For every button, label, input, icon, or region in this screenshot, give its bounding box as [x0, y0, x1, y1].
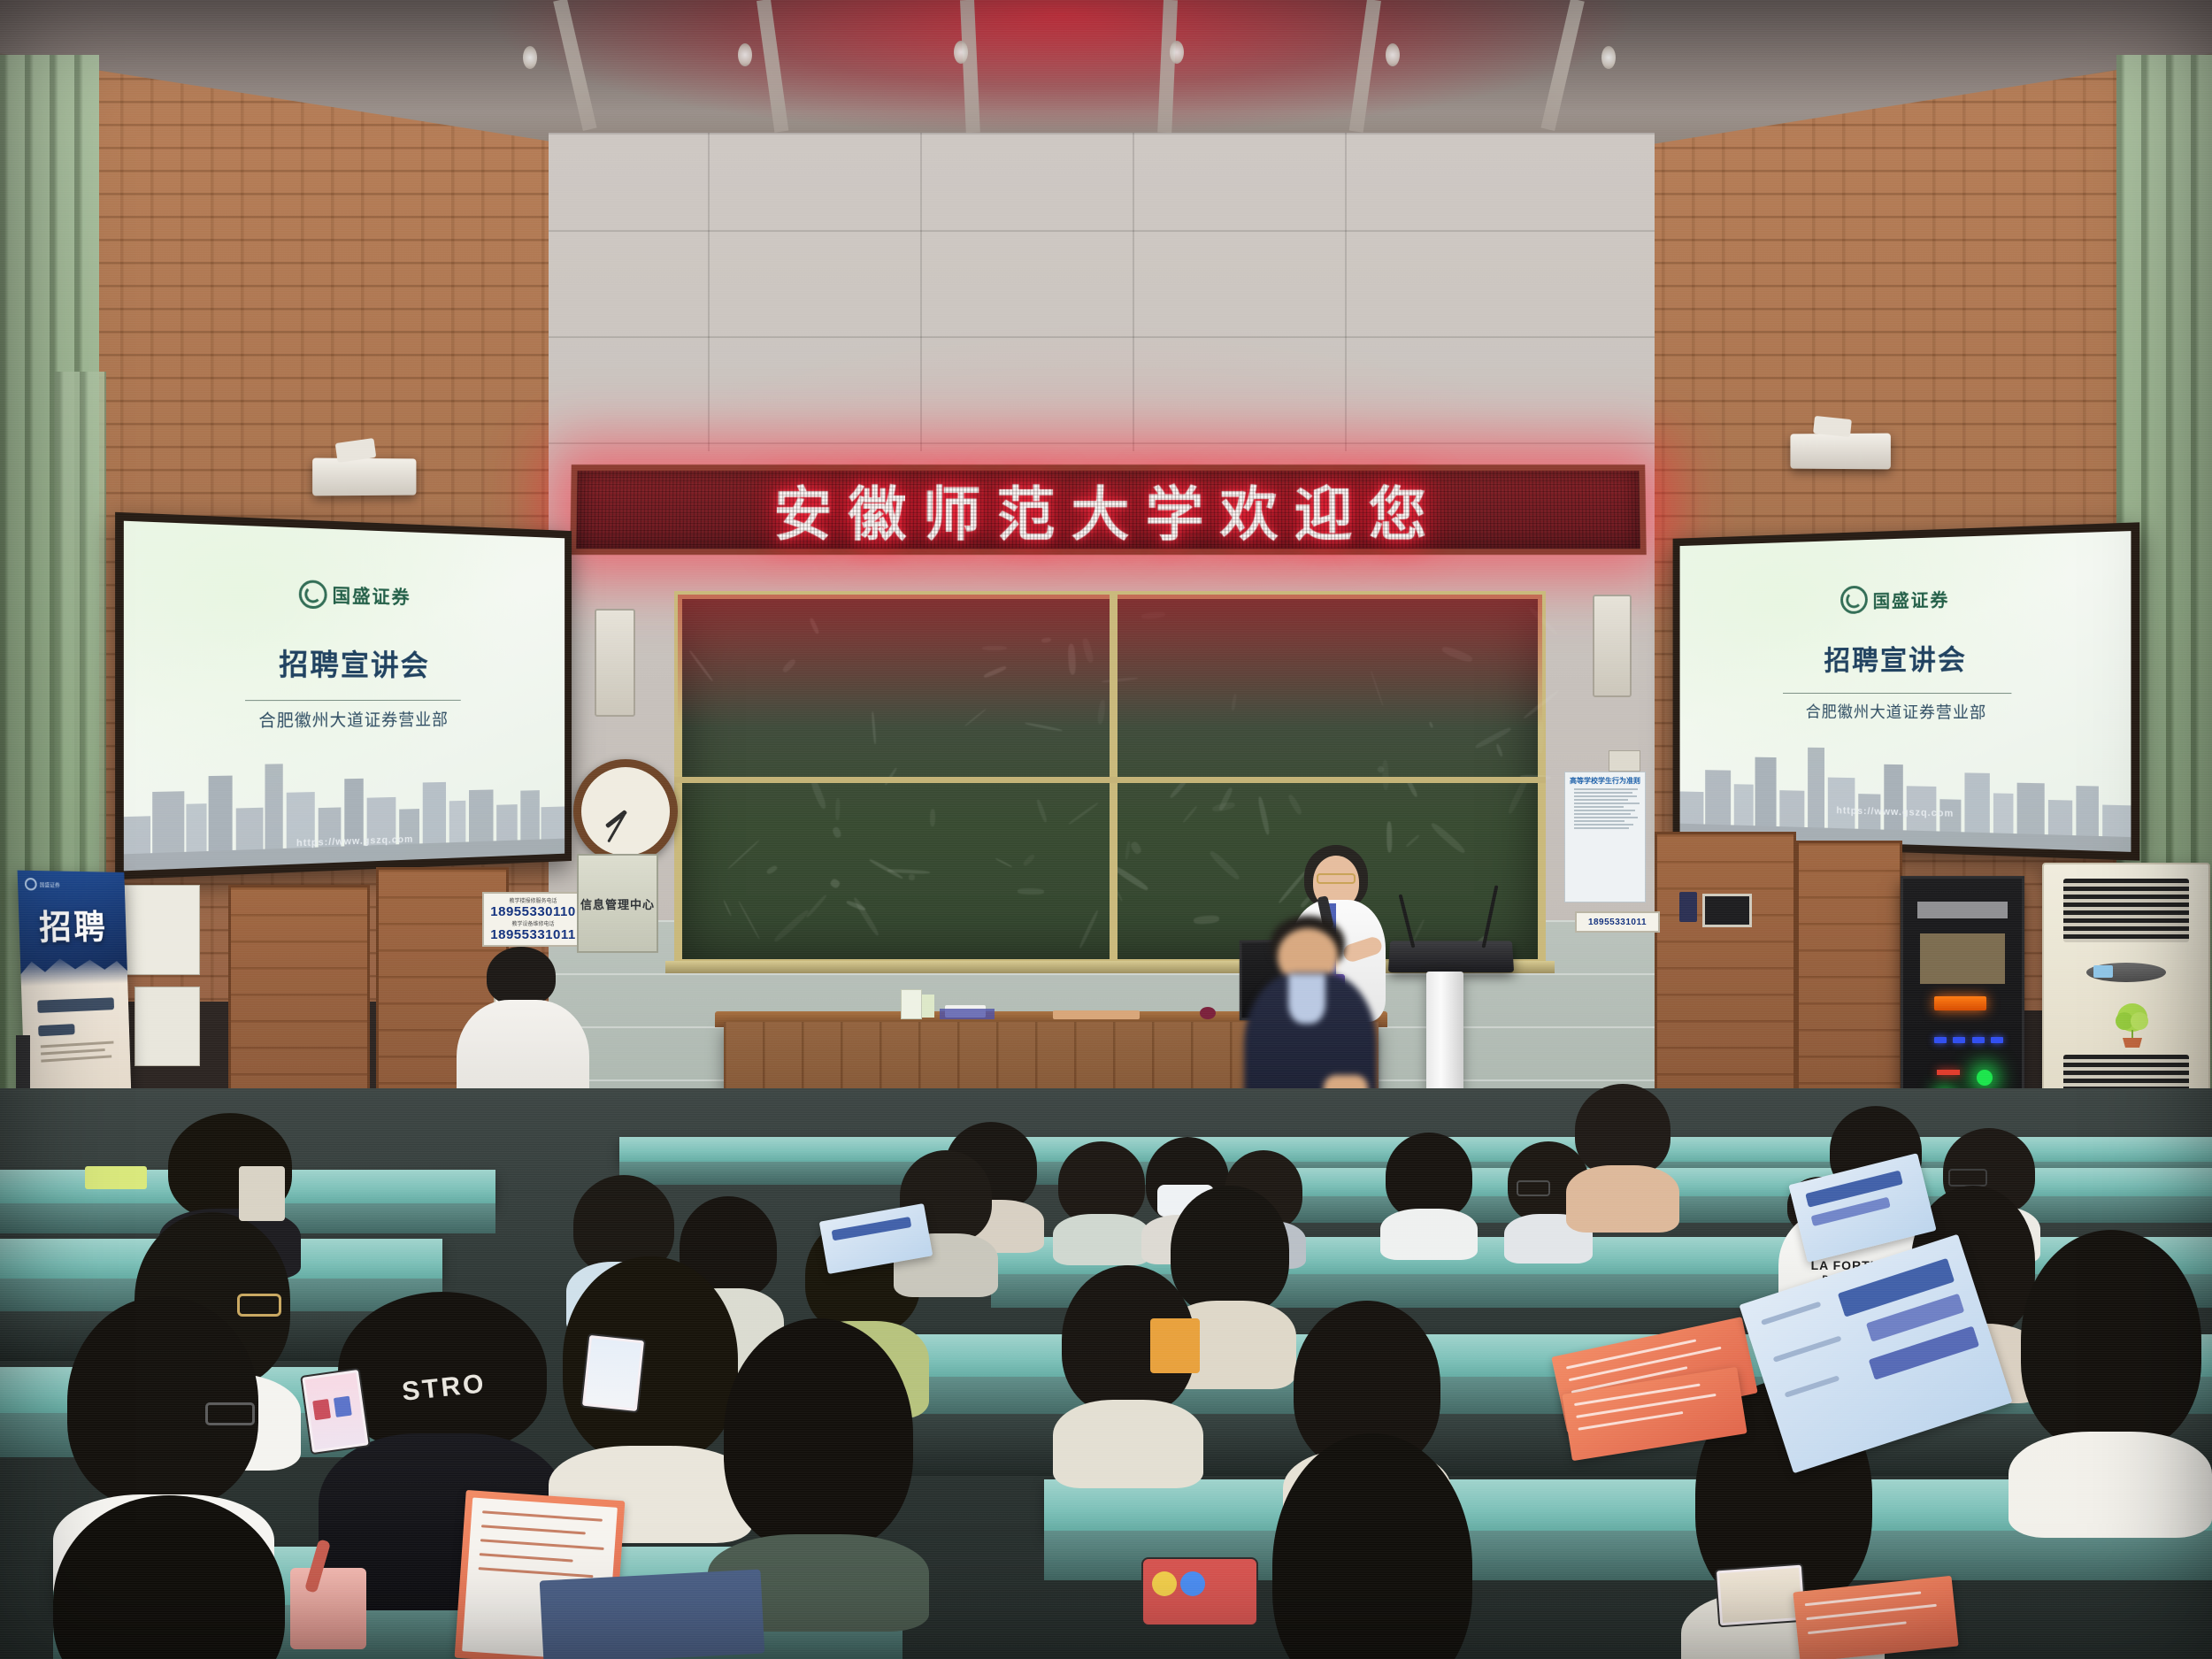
chalk-smudge	[727, 840, 760, 871]
chalk-smudge	[1141, 611, 1166, 620]
desk-item-yellow	[85, 1166, 147, 1189]
slide-rule	[1783, 693, 2011, 694]
repair-phone-sign: 教学楼报修服务电话 18955330110 教学设备维修电话 189553310…	[482, 892, 584, 947]
student-phone-2[interactable]	[580, 1333, 646, 1413]
chalk-smudge	[1429, 722, 1433, 729]
chalk-smudge	[1022, 853, 1036, 867]
phone-caption-2: 教学设备维修电话	[511, 919, 554, 927]
chalk-smudge	[1208, 849, 1240, 881]
chalk-smudge	[1096, 700, 1106, 726]
left-projection-screen: 国盛证券 招聘宣讲会 合肥徽州大道证券营业部 https://www.gszq.…	[115, 512, 572, 879]
desk-small-object	[1200, 1007, 1216, 1019]
chalk-smudge	[1475, 726, 1512, 749]
ac-top-grill	[2063, 879, 2188, 942]
recruitment-roll-banner: 国盛证券 招聘	[18, 871, 132, 1125]
slide-logo-text: 国盛证券	[333, 581, 411, 610]
glasses-icon	[1948, 1169, 1987, 1187]
wall-block-line	[1345, 133, 1347, 451]
student-phone-1[interactable]	[300, 1368, 371, 1455]
wall-block-line	[708, 133, 710, 451]
rack-button-4[interactable]	[1991, 1037, 2003, 1043]
desk-item-green	[922, 995, 934, 1018]
chalk-smudge	[1495, 743, 1503, 757]
wall-block-line	[549, 336, 1655, 338]
door-lock-icon[interactable]	[1679, 892, 1697, 922]
right-projection-screen: 国盛证券 招聘宣讲会 合肥徽州大道证券营业部 https://www.gszq.…	[1673, 522, 2140, 860]
chalk-smudge	[773, 909, 810, 943]
slide-subtitle: 合肥徽州大道证券营业部	[1680, 700, 2131, 725]
chalk-smudge	[964, 708, 987, 726]
rack-button-2[interactable]	[1953, 1037, 1965, 1043]
student-rules-poster: 高等学校学生行为准则	[1564, 772, 1646, 902]
right-phone-sign: 18955331011	[1575, 911, 1660, 933]
chalk-smudge	[1287, 794, 1304, 817]
ceiling-rib	[1157, 0, 1178, 133]
chalk-smudge	[1429, 821, 1466, 855]
wall-block-line	[549, 442, 1655, 444]
info-management-center-box: 信息管理中心	[577, 854, 658, 953]
lectern-top	[1388, 941, 1514, 972]
ceiling-light	[954, 41, 968, 64]
right-wall-speaker	[1593, 595, 1632, 697]
ceiling-light	[1386, 43, 1400, 66]
glasses-icon	[1517, 1180, 1550, 1196]
classroom-photo: 安徽师范大学欢迎您	[0, 0, 2212, 1659]
chalk-smudge	[1035, 799, 1048, 823]
slide-logo: 国盛证券	[1840, 584, 1949, 614]
chalkboard-divider-horizontal	[674, 777, 1546, 783]
banner-chip-1	[37, 997, 114, 1013]
chalk-smudge	[983, 664, 1006, 678]
chalk-smudge	[1102, 677, 1138, 683]
chalk-smudge	[809, 618, 819, 634]
phone-number-right: 18955331011	[1588, 918, 1647, 927]
info-box-label: 信息管理中心	[580, 895, 655, 912]
right-projector-mount	[1813, 416, 1852, 437]
ceiling-rib	[1540, 0, 1584, 131]
slide-subtitle: 合肥徽州大道证券营业部	[124, 706, 565, 733]
chalk-smudge	[829, 878, 841, 889]
door-card-reader[interactable]	[1702, 894, 1752, 927]
chalk-smudge	[1381, 759, 1388, 789]
rack-status-led-green-1	[1977, 1070, 1993, 1086]
wall-clock	[573, 759, 678, 864]
led-banner-text: 安徽师范大学欢迎您	[773, 467, 1443, 552]
banner-top-panel: 国盛证券 招聘	[18, 871, 128, 987]
chalk-smudge	[1193, 915, 1219, 925]
banner-chip-2	[38, 1024, 75, 1036]
audience-head	[708, 1318, 929, 1610]
audience-head	[35, 1495, 301, 1659]
chalk-smudge	[1256, 795, 1271, 835]
chalk-smudge	[723, 899, 732, 916]
chalk-smudge	[1081, 637, 1094, 663]
chalk-smudge	[982, 646, 1007, 651]
chalk-smudge	[1371, 670, 1385, 706]
chalk-smudge	[995, 857, 1012, 867]
audience-head	[1256, 1433, 1486, 1659]
rack-button-3[interactable]	[1972, 1037, 1985, 1043]
phone-number-1: 18955330110	[490, 904, 575, 919]
audience-head	[1566, 1084, 1679, 1208]
chalk-smudge	[1182, 805, 1197, 823]
ceiling-rib	[757, 0, 788, 133]
slide-title: 招聘宣讲会	[124, 639, 565, 685]
banner-logo-text: 国盛证券	[39, 880, 59, 888]
desk-tissue-box	[901, 989, 922, 1019]
wall-block-line	[920, 133, 922, 451]
ceiling-rib	[553, 0, 596, 131]
chalk-smudge	[1413, 919, 1425, 941]
led-welcome-banner: 安徽师范大学欢迎您	[570, 465, 1647, 555]
wall-block-line	[549, 133, 1655, 134]
rules-poster-title: 高等学校学生行为准则	[1569, 776, 1641, 786]
chalk-smudge	[1231, 694, 1236, 710]
desk-paper	[1053, 1010, 1140, 1019]
potted-plant-sticker	[2113, 1000, 2152, 1049]
pink-tumbler	[290, 1568, 366, 1649]
wall-block-line	[549, 230, 1655, 232]
right-projector	[1790, 434, 1890, 470]
rack-button-1[interactable]	[1934, 1037, 1947, 1043]
ceiling-light	[523, 46, 537, 69]
phone-number-2: 18955331011	[490, 927, 575, 942]
audience-head	[1053, 1141, 1150, 1239]
chalk-smudge	[781, 658, 796, 674]
tile-line	[549, 973, 1655, 975]
chalk-smudge	[1441, 644, 1474, 663]
chalk-smudge	[908, 873, 914, 879]
ac-sticker-blue	[2093, 965, 2113, 978]
slide-title: 招聘宣讲会	[1680, 635, 2131, 679]
chalk-smudge	[1025, 722, 1063, 732]
chalk-smudge	[832, 826, 842, 839]
right-wall-sensor	[1609, 750, 1640, 772]
ceiling-light	[738, 43, 752, 66]
presenter-glasses-icon	[1317, 873, 1356, 884]
audience-head	[2008, 1230, 2212, 1495]
chalk-smudge	[1539, 720, 1544, 753]
slide-left: 国盛证券 招聘宣讲会 合肥徽州大道证券营业部 https://www.gszq.…	[124, 521, 565, 872]
slide-logo-text: 国盛证券	[1873, 585, 1950, 612]
chalk-smudge	[1068, 802, 1099, 826]
chalk-smudge	[1405, 834, 1419, 847]
ceiling-light	[1170, 41, 1184, 64]
chalk-smudge	[1068, 643, 1077, 674]
desk-mousepad	[940, 1009, 995, 1019]
chalk-smudge	[765, 864, 779, 875]
audience-head	[1380, 1133, 1478, 1235]
chalk-smudge	[835, 797, 841, 819]
gszq-logo-icon	[299, 580, 327, 609]
phone-case-red[interactable]	[1141, 1557, 1258, 1626]
chalk-smudge	[688, 649, 713, 681]
left-wall-paper-2	[134, 987, 200, 1066]
wall-block-line	[1133, 133, 1134, 451]
banner-title: 招聘	[19, 900, 127, 949]
left-projector	[312, 458, 416, 496]
glasses-icon	[205, 1402, 255, 1425]
chalk-smudge	[1041, 637, 1052, 643]
left-wall-paper-1	[124, 885, 200, 975]
chalk-smudge	[738, 901, 760, 940]
ceiling-light	[1601, 46, 1616, 69]
banner-mountain-graphic	[20, 954, 127, 987]
rack-status-led-red	[1937, 1070, 1960, 1075]
ceiling-rib	[960, 0, 980, 133]
chalk-smudge	[1079, 910, 1100, 949]
rack-orange-display	[1934, 996, 1986, 1010]
chalk-smudge	[852, 896, 880, 937]
slide-logo: 国盛证券	[299, 580, 411, 611]
chalk-smudge	[1125, 841, 1131, 859]
phone-caption-1: 教学楼报修服务电话	[509, 896, 557, 904]
paper-cup	[239, 1166, 285, 1221]
drink-cup	[1150, 1318, 1200, 1373]
chalk-smudge	[1018, 887, 1044, 894]
denim-jacket	[540, 1570, 765, 1659]
ceiling-rib	[1349, 0, 1381, 133]
chalk-smudge	[872, 711, 877, 744]
banner-logo-icon	[25, 878, 37, 890]
left-wall-speaker	[595, 609, 635, 717]
gszq-logo-icon	[1840, 586, 1868, 614]
slide-right: 国盛证券 招聘宣讲会 合肥徽州大道证券营业部 https://www.gszq.…	[1680, 531, 2131, 852]
chalk-smudge	[805, 894, 827, 918]
chalk-smudge	[930, 809, 936, 826]
chalk-smudge	[1130, 841, 1143, 856]
